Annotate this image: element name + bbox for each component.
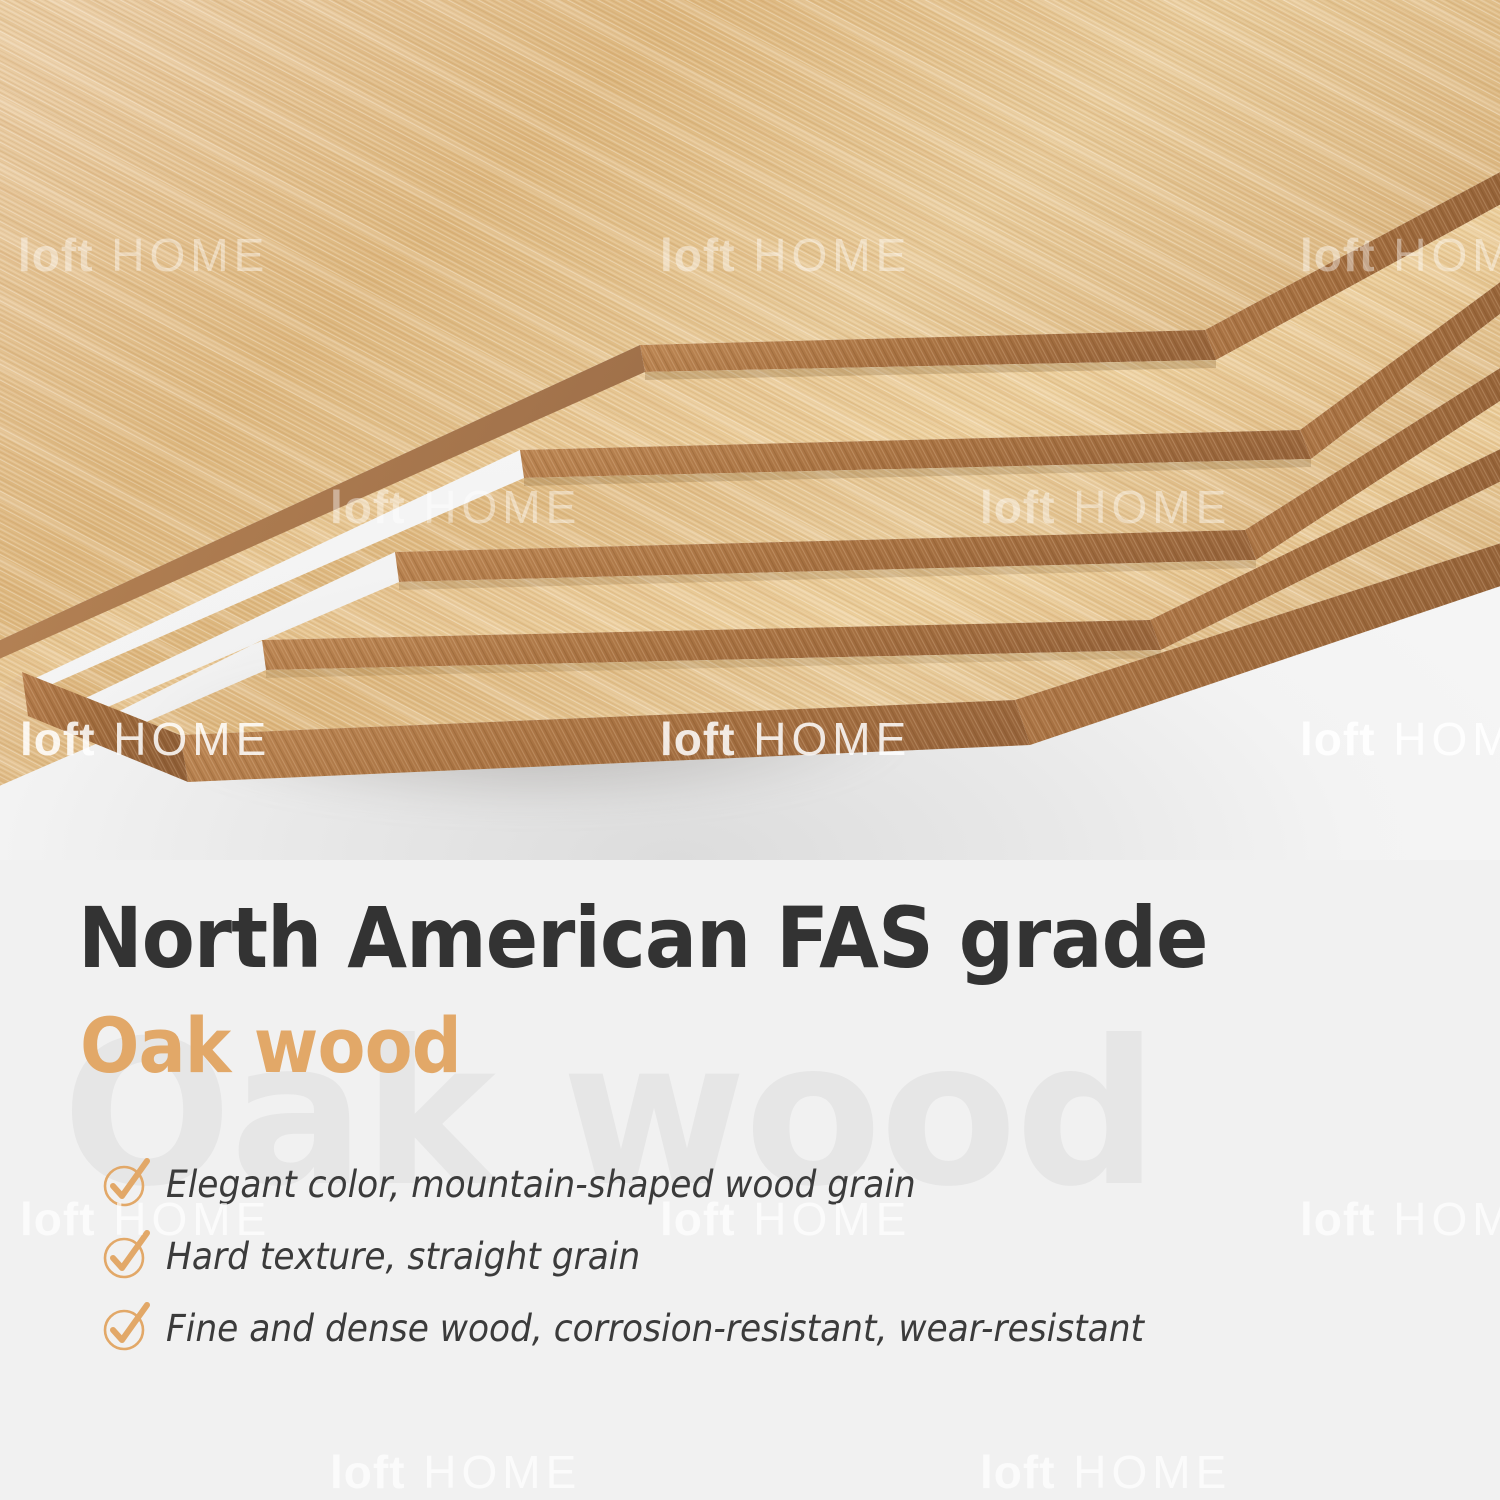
watermark-prefix: loft (1300, 229, 1376, 281)
product-feature-page: loft HOME loft HOME loft HOME loft HOME … (0, 0, 1500, 1500)
watermark: loft HOME (1300, 1192, 1500, 1246)
watermark-suffix: HOME (753, 229, 911, 281)
watermark-suffix: HOME (113, 713, 271, 765)
feature-list: Elegant color, mountain-shaped wood grai… (100, 1148, 1440, 1364)
watermark-suffix: HOME (423, 481, 581, 533)
page-subtitle: Oak wood (80, 1008, 461, 1084)
watermark: loft HOME (20, 712, 271, 766)
watermark-suffix: HOME (111, 229, 269, 281)
watermark-suffix: HOME (1393, 229, 1500, 281)
watermark-prefix: loft (18, 229, 94, 281)
product-photo: loft HOME loft HOME loft HOME loft HOME … (0, 0, 1500, 860)
watermark-suffix: HOME (423, 1446, 581, 1498)
watermark-prefix: loft (330, 1446, 406, 1498)
watermark-suffix: HOME (753, 713, 911, 765)
watermark: loft HOME (18, 228, 269, 282)
watermark-prefix: loft (660, 713, 736, 765)
watermark-prefix: loft (20, 713, 96, 765)
watermark: loft HOME (660, 228, 911, 282)
watermark: loft HOME (980, 1445, 1231, 1499)
watermark-suffix: HOME (113, 1193, 271, 1245)
watermark: loft HOME (980, 480, 1231, 534)
watermark-suffix: HOME (1073, 481, 1231, 533)
watermark-prefix: loft (1300, 713, 1376, 765)
watermark-prefix: loft (980, 1446, 1056, 1498)
list-item: Fine and dense wood, corrosion-resistant… (100, 1292, 1440, 1364)
watermark: loft HOME (1300, 228, 1500, 282)
watermark-prefix: loft (660, 1193, 736, 1245)
watermark: loft HOME (660, 712, 911, 766)
watermark: loft HOME (330, 1445, 581, 1499)
check-circle-icon (100, 1302, 152, 1354)
watermark-prefix: loft (20, 1193, 96, 1245)
watermark-prefix: loft (330, 481, 406, 533)
watermark-prefix: loft (660, 229, 736, 281)
page-title: North American FAS grade (78, 896, 1208, 980)
watermark-suffix: HOME (1393, 1193, 1500, 1245)
feature-text: Fine and dense wood, corrosion-resistant… (166, 1310, 1144, 1347)
watermark: loft HOME (1300, 712, 1500, 766)
watermark: loft HOME (330, 480, 581, 534)
watermark-prefix: loft (1300, 1193, 1376, 1245)
watermark-prefix: loft (980, 481, 1056, 533)
watermark-suffix: HOME (1073, 1446, 1231, 1498)
watermark-suffix: HOME (753, 1193, 911, 1245)
watermark: loft HOME (660, 1192, 911, 1246)
watermark: loft HOME (20, 1192, 271, 1246)
watermark-suffix: HOME (1393, 713, 1500, 765)
